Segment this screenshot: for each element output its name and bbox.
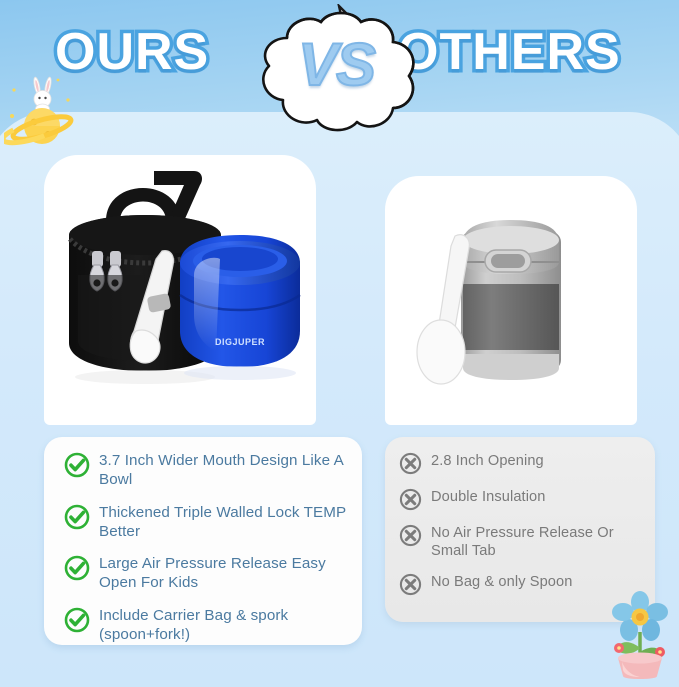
list-item-label: Thickened Triple Walled Lock TEMP Better: [99, 503, 348, 542]
blue-flower-in-pot-decoration: [600, 586, 676, 679]
list-item-label: Large Air Pressure Release Easy Open For…: [99, 554, 348, 593]
brand-logo-text: DIGJUPER: [215, 337, 265, 347]
check-circle-icon: [64, 504, 90, 530]
list-item: 3.7 Inch Wider Mouth Design Like A Bowl: [44, 451, 362, 490]
others-product-illustration: [385, 176, 637, 425]
list-item-label: Double Insulation: [431, 488, 545, 506]
cross-circle-icon: [399, 452, 422, 475]
cross-circle-icon: [399, 573, 422, 596]
cross-circle-icon: [399, 488, 422, 511]
vs-cloud-badge: VS: [243, 4, 429, 136]
others-product-photo: [385, 176, 637, 425]
list-item: Include Carrier Bag & spork (spoon+fork!…: [44, 606, 362, 645]
list-item: Double Insulation: [385, 487, 655, 511]
list-item-label: No Air Pressure Release Or Small Tab: [431, 524, 643, 560]
others-title: OTHERS: [398, 22, 621, 82]
list-item: 2.8 Inch Opening: [385, 451, 655, 475]
list-item-label: Include Carrier Bag & spork (spoon+fork!…: [99, 606, 348, 645]
list-item: Thickened Triple Walled Lock TEMP Better: [44, 503, 362, 542]
vs-label: VS: [243, 30, 429, 99]
list-item-label: 2.8 Inch Opening: [431, 452, 544, 470]
list-item-label: 3.7 Inch Wider Mouth Design Like A Bowl: [99, 451, 348, 490]
check-circle-icon: [64, 452, 90, 478]
ours-feature-list: 3.7 Inch Wider Mouth Design Like A Bowl …: [44, 437, 362, 645]
header: OURS OTHERS VS: [0, 0, 679, 112]
bunny-on-planet-decoration: [4, 72, 84, 152]
list-item: Large Air Pressure Release Easy Open For…: [44, 554, 362, 593]
comparison-infographic: OURS OTHERS VS: [0, 0, 679, 679]
check-circle-icon: [64, 555, 90, 581]
cross-circle-icon: [399, 524, 422, 547]
ours-product-illustration: DIGJUPER: [44, 155, 316, 425]
check-circle-icon: [64, 607, 90, 633]
list-item: No Air Pressure Release Or Small Tab: [385, 523, 655, 560]
ours-product-photo: DIGJUPER: [44, 155, 316, 425]
list-item-label: No Bag & only Spoon: [431, 573, 572, 591]
